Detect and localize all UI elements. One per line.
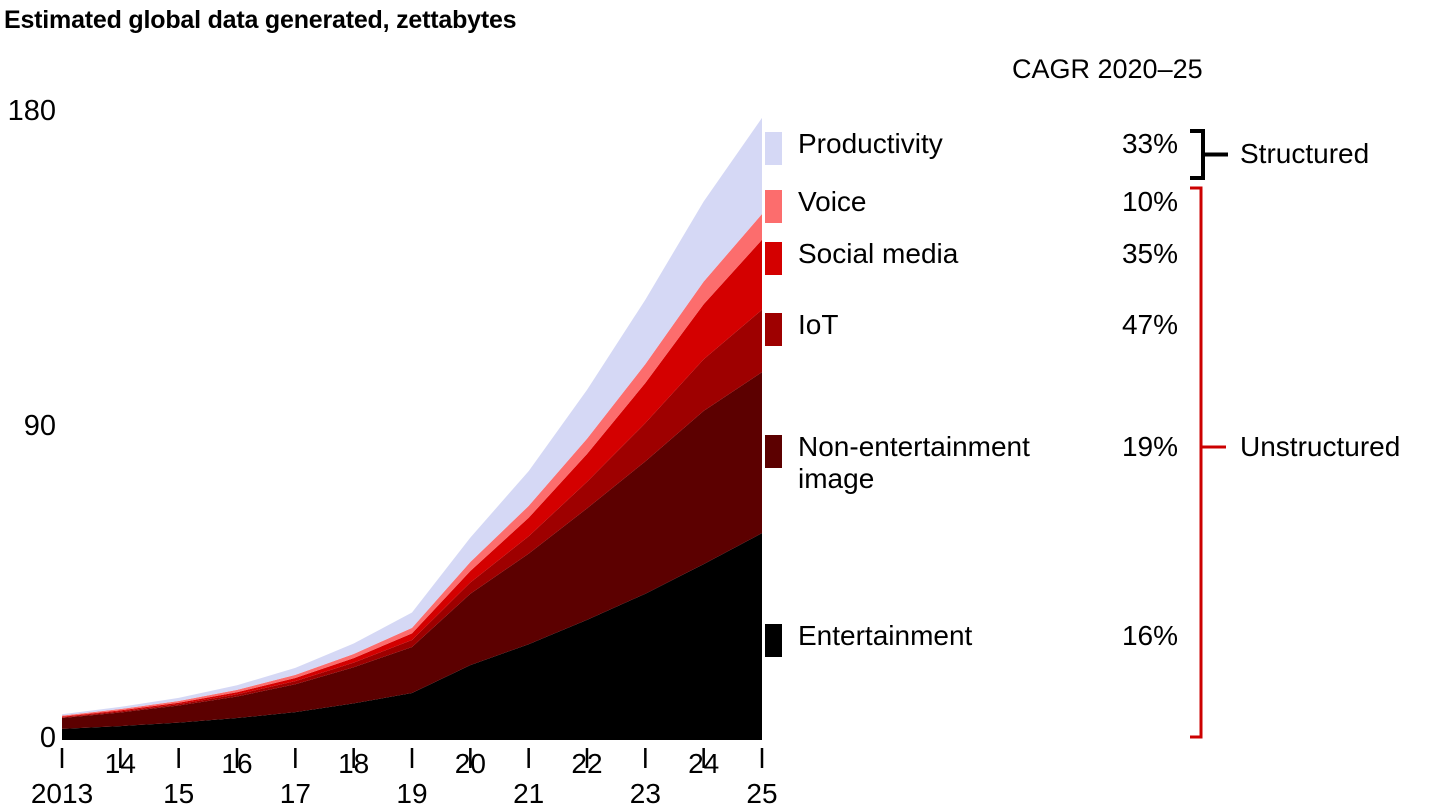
- legend-swatch-iot: [765, 313, 782, 346]
- legend-value-social-media: 35%: [1098, 238, 1178, 270]
- legend-swatch-entertainment: [765, 624, 782, 657]
- x-axis-tick-label-2022: 22: [571, 748, 602, 780]
- x-axis-tick-label-2014: 14: [105, 748, 136, 780]
- legend-swatch-voice: [765, 190, 782, 223]
- legend-label-entertainment: Entertainment: [798, 620, 972, 652]
- legend-label-productivity: Productivity: [798, 128, 943, 160]
- x-axis-tick-label-2017: 17: [280, 778, 311, 810]
- x-axis-tick-label-2025: 25: [746, 778, 777, 810]
- legend-swatch-non-entertainment-image: [765, 435, 782, 468]
- x-axis-tick-label-2021: 21: [513, 778, 544, 810]
- x-axis-tick-label-2020: 20: [455, 748, 486, 780]
- legend-value-productivity: 33%: [1098, 128, 1178, 160]
- group-label-unstructured: Unstructured: [1240, 431, 1400, 463]
- group-label-structured: Structured: [1240, 138, 1369, 170]
- area-layers: [62, 118, 762, 740]
- legend-swatch-productivity: [765, 132, 782, 165]
- legend-value-voice: 10%: [1098, 186, 1178, 218]
- legend-value-non-entertainment-image: 19%: [1098, 431, 1178, 463]
- legend-value-entertainment: 16%: [1098, 620, 1178, 652]
- x-axis-tick-label-2016: 16: [221, 748, 252, 780]
- x-axis-tick-label-2024: 24: [688, 748, 719, 780]
- legend-value-iot: 47%: [1098, 309, 1178, 341]
- x-axis-tick-label-2018: 18: [338, 748, 369, 780]
- legend-label-voice: Voice: [798, 186, 867, 218]
- legend-label-iot: IoT: [798, 309, 838, 341]
- x-axis-tick-label-2013: 2013: [31, 778, 93, 810]
- x-axis-tick-label-2015: 15: [163, 778, 194, 810]
- x-axis-tick-label-2019: 19: [396, 778, 427, 810]
- stacked-area-plot: [0, 0, 1440, 810]
- legend-swatch-social-media: [765, 242, 782, 275]
- x-axis-ticks: [62, 748, 762, 768]
- x-axis-tick-label-2023: 23: [630, 778, 661, 810]
- legend-label-social-media: Social media: [798, 238, 958, 270]
- legend-label-non-entertainment-image: Non-entertainment image: [798, 431, 1030, 494]
